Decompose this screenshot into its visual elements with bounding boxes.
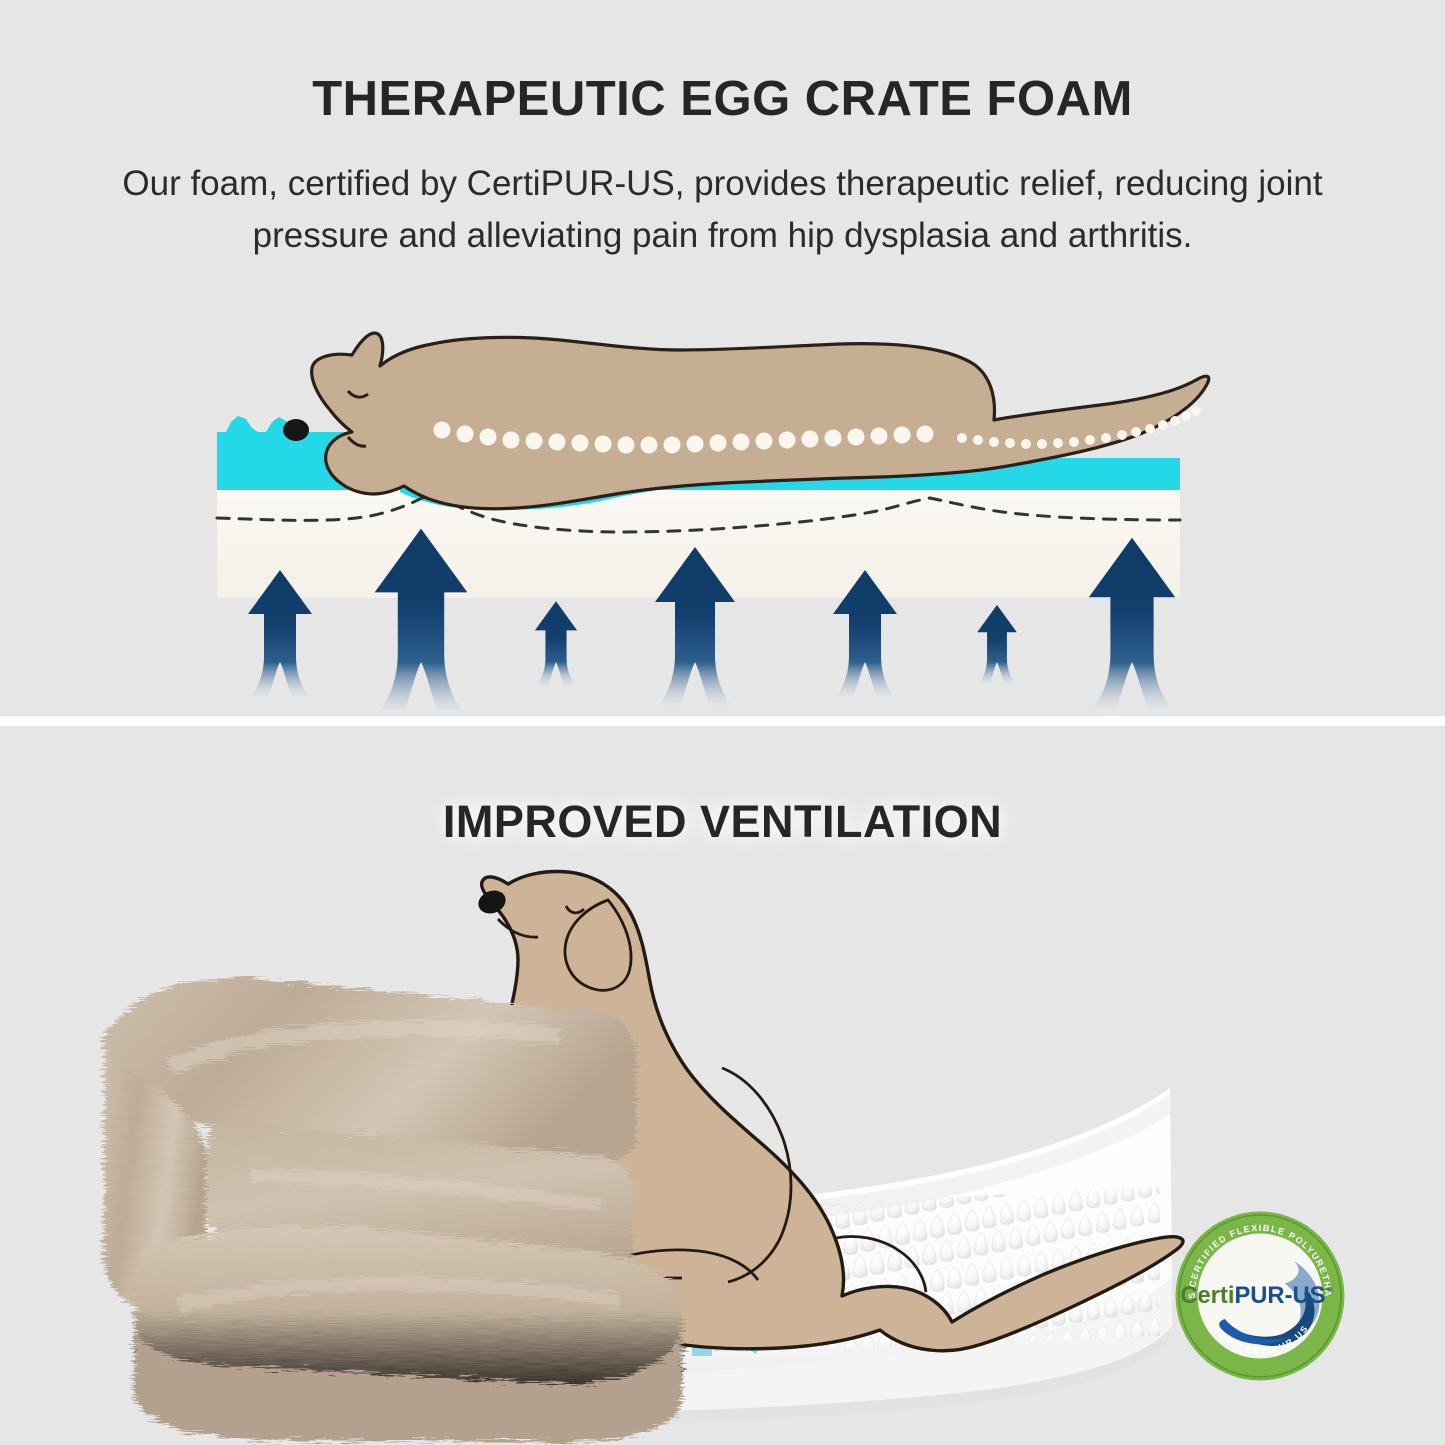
faux-fur-bolster-bed [104,978,682,1442]
foam-bump [853,1149,867,1172]
seal-brand-text: CertiPUR-US® [1180,1282,1332,1309]
foam-bump [1061,1106,1074,1127]
foam-bump [801,1160,816,1184]
foam-bump [1027,1113,1040,1135]
foam-bump [1096,1099,1109,1120]
foam-bump [940,1131,954,1153]
foam-bump [870,1146,884,1169]
foam-bump [974,1124,988,1146]
foam-bump [1174,1171,1187,1191]
seal-brand-wordmark: CertiPUR-US® [1180,1282,1332,1309]
certipur-us-seal: CertiPUR-US® CONTAINS CERTIFIED FLEXIBLE… [1172,1208,1348,1384]
subtitle-therapeutic-foam: Our foam, certified by CertiPUR-US, prov… [60,158,1385,262]
foam-bump [835,1153,850,1176]
page-title-improved-ventilation: IMPROVED VENTILATION [0,795,1445,849]
foam-bump [922,1135,936,1158]
foam-bump [818,1157,833,1181]
cross-section-diagram [0,310,1445,710]
foam-bump [1113,1095,1126,1116]
foam-bump [905,1138,919,1161]
infographic-canvas: THERAPEUTIC EGG CRATE FOAM Our foam, cer… [0,0,1445,1445]
foam-bump [957,1128,971,1150]
foam-bump [1079,1102,1092,1123]
dog-nose [283,419,309,441]
foam-bump [888,1142,902,1165]
panel-divider [0,716,1445,726]
page-title-therapeutic-foam: THERAPEUTIC EGG CRATE FOAM [0,70,1445,128]
foam-bump [1009,1117,1023,1139]
foam-bump [1044,1110,1057,1132]
foam-bump [1174,1113,1187,1133]
foam-bump [992,1120,1006,1142]
